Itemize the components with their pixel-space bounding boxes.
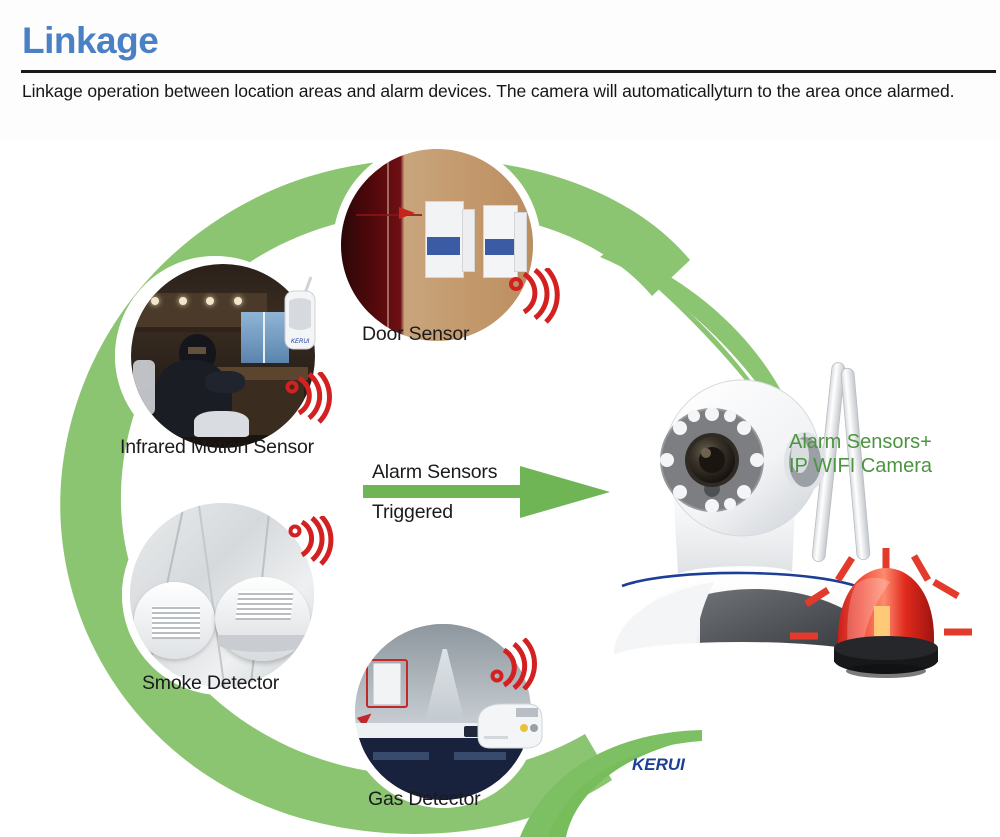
wireless-waves-gas-icon (486, 638, 540, 690)
wireless-waves-smoke-icon (284, 516, 336, 566)
page-header: Linkage Linkage operation between locati… (0, 0, 1000, 140)
page-subtitle: Linkage operation between location areas… (22, 79, 1000, 104)
flow-label-line1: Alarm Sensors (372, 461, 497, 484)
camera-caption-line2: IP WIFI Camera (789, 454, 932, 478)
flow-label-line2: Triggered (372, 501, 453, 524)
camera-brand-logo: KERUI (632, 755, 686, 774)
camera-caption-line1: Alarm Sensors+ (789, 430, 932, 454)
wireless-waves-door-icon (504, 268, 564, 324)
ip-wifi-camera: KERUI (612, 362, 881, 774)
label-infrared-motion-sensor: Infrared Motion Sensor (120, 436, 314, 459)
page-title: Linkage (22, 16, 982, 66)
wireless-waves-pir-icon (281, 372, 335, 424)
label-door-sensor: Door Sensor (362, 323, 469, 346)
pir-sensor-device: KERUI (275, 275, 323, 361)
title-divider (21, 70, 996, 73)
camera-caption: Alarm Sensors+ IP WIFI Camera (789, 430, 932, 478)
label-gas-detector: Gas Detector (368, 788, 480, 811)
gas-detector-device (472, 692, 546, 756)
linkage-diagram: KERUI (0, 140, 1000, 837)
label-smoke-detector: Smoke Detector (142, 672, 279, 695)
svg-text:KERUI: KERUI (291, 339, 310, 345)
